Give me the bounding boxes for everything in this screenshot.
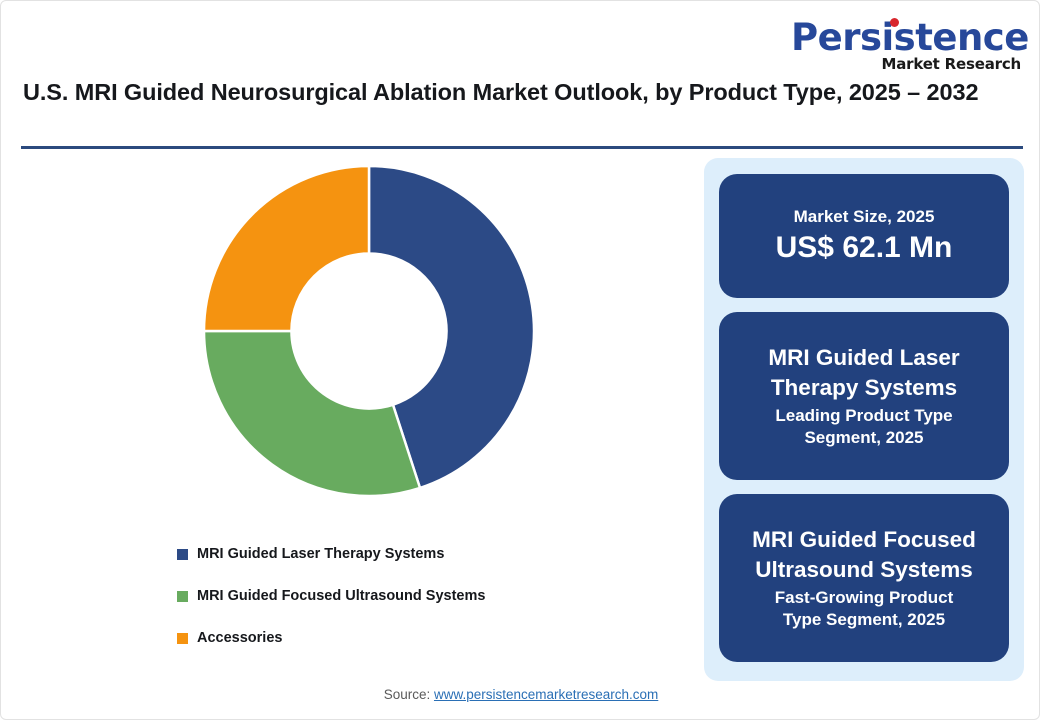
card-fast-growing-segment-heading-line2: Ultrasound Systems <box>755 557 973 582</box>
card-fast-growing-segment-caption: Fast-Growing Product Type Segment, 2025 <box>771 587 958 631</box>
card-leading-segment-caption-line1: Leading Product Type <box>775 406 952 425</box>
donut-slice-group <box>204 166 534 496</box>
donut-chart <box>21 153 681 543</box>
brand-logo-dot-icon <box>890 18 899 27</box>
card-fast-growing-segment-heading-line1: MRI Guided Focused <box>752 527 976 552</box>
donut-chart-svg <box>199 161 539 501</box>
brand-logo-subtitle: Market Research <box>791 57 1021 72</box>
brand-logo-wordmark: Persistence <box>791 19 1029 56</box>
card-fast-growing-segment-caption-line2: Type Segment, 2025 <box>783 610 945 629</box>
legend-label-accessories: Accessories <box>197 630 282 646</box>
donut-slice[interactable] <box>204 166 369 331</box>
legend-swatch-icon-laser-therapy <box>177 549 188 560</box>
donut-slice[interactable] <box>204 331 420 496</box>
card-market-size-label: Market Size, 2025 <box>794 206 935 227</box>
legend-swatch-icon-accessories <box>177 633 188 644</box>
legend-item-focused-ultrasound[interactable]: MRI Guided Focused Ultrasound Systems <box>177 575 697 617</box>
legend-label-focused-ultrasound: MRI Guided Focused Ultrasound Systems <box>197 588 485 604</box>
card-fast-growing-segment-caption-line1: Fast-Growing Product <box>775 588 954 607</box>
title-divider <box>21 146 1023 149</box>
legend-label-laser-therapy: MRI Guided Laser Therapy Systems <box>197 546 444 562</box>
card-leading-segment-caption-line2: Segment, 2025 <box>804 428 923 447</box>
legend-item-laser-therapy[interactable]: MRI Guided Laser Therapy Systems <box>177 533 697 575</box>
source-line: Source: www.persistencemarketresearch.co… <box>1 687 1040 702</box>
card-leading-segment-heading: MRI Guided Laser Therapy Systems <box>762 343 965 402</box>
source-link[interactable]: www.persistencemarketresearch.com <box>434 687 658 702</box>
legend-item-accessories[interactable]: Accessories <box>177 617 697 659</box>
card-leading-segment-caption: Leading Product Type Segment, 2025 <box>771 405 956 449</box>
card-market-size: Market Size, 2025 US$ 62.1 Mn <box>719 174 1009 298</box>
page-title: U.S. MRI Guided Neurosurgical Ablation M… <box>23 77 1023 108</box>
brand-logo: Persistence Market Research <box>791 19 1021 72</box>
card-leading-segment-heading-line2: Therapy Systems <box>771 375 957 400</box>
brand-logo-word-text: Persistence <box>791 16 1029 59</box>
legend-swatch-icon-focused-ultrasound <box>177 591 188 602</box>
card-fast-growing-segment: MRI Guided Focused Ultrasound Systems Fa… <box>719 494 1009 662</box>
infographic-frame: Persistence Market Research U.S. MRI Gui… <box>0 0 1040 720</box>
highlights-panel: Market Size, 2025 US$ 62.1 Mn MRI Guided… <box>704 158 1024 681</box>
card-fast-growing-segment-heading: MRI Guided Focused Ultrasound Systems <box>746 525 982 584</box>
card-market-size-value: US$ 62.1 Mn <box>776 230 953 266</box>
chart-legend: MRI Guided Laser Therapy Systems MRI Gui… <box>177 533 697 659</box>
card-leading-segment-heading-line1: MRI Guided Laser <box>768 345 959 370</box>
card-leading-segment: MRI Guided Laser Therapy Systems Leading… <box>719 312 1009 480</box>
source-label: Source: <box>384 687 434 702</box>
